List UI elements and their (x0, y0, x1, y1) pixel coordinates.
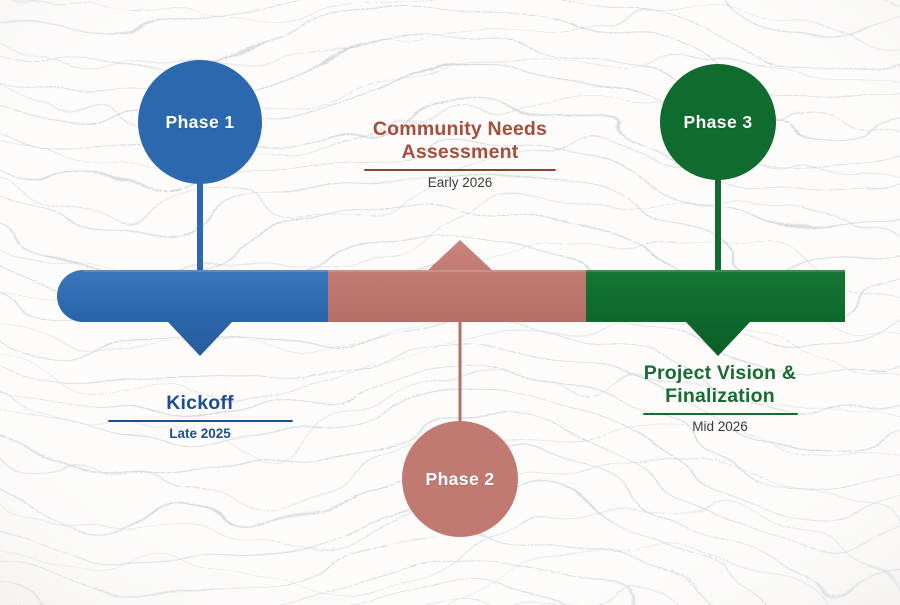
phase-3-caption: Project Vision & Finalization Mid 2026 (600, 362, 840, 435)
bar-highlight (83, 270, 845, 272)
phase-2-caption: Community Needs Assessment Early 2026 (340, 118, 580, 191)
phase-2-date: Early 2026 (340, 175, 580, 191)
phase-1-underline (108, 420, 293, 422)
phase-3-bar-segment (586, 270, 845, 356)
phase-3-badge-label: Phase 3 (658, 112, 778, 133)
roadmap-canvas: Phase 1 Phase 2 Phase 3 Kickoff Late 202… (0, 0, 900, 605)
phase-1-date: Late 2025 (90, 426, 310, 442)
phase-2-title-line-2: Assessment (340, 141, 580, 164)
phase-2-title-line-1: Community Needs (340, 118, 580, 141)
phase-3-stem (715, 176, 721, 276)
phase-2-bar-segment (328, 240, 586, 322)
phase-3-date: Mid 2026 (600, 419, 840, 435)
phase-1-title: Kickoff (90, 392, 310, 415)
phase-1-bar-segment (57, 270, 328, 356)
phase-2-badge-label: Phase 2 (400, 469, 520, 490)
roadmap-figure (0, 0, 900, 605)
phase-3-underline (643, 413, 798, 415)
phase-1-stem (197, 176, 203, 276)
phase-1-badge-label: Phase 1 (140, 112, 260, 133)
phase-2-underline (364, 169, 556, 171)
phase-3-title-line-1: Project Vision & (600, 362, 840, 385)
phase-2-stem (459, 316, 462, 426)
phase-3-title-line-2: Finalization (600, 385, 840, 408)
phase-1-caption: Kickoff Late 2025 (90, 392, 310, 442)
